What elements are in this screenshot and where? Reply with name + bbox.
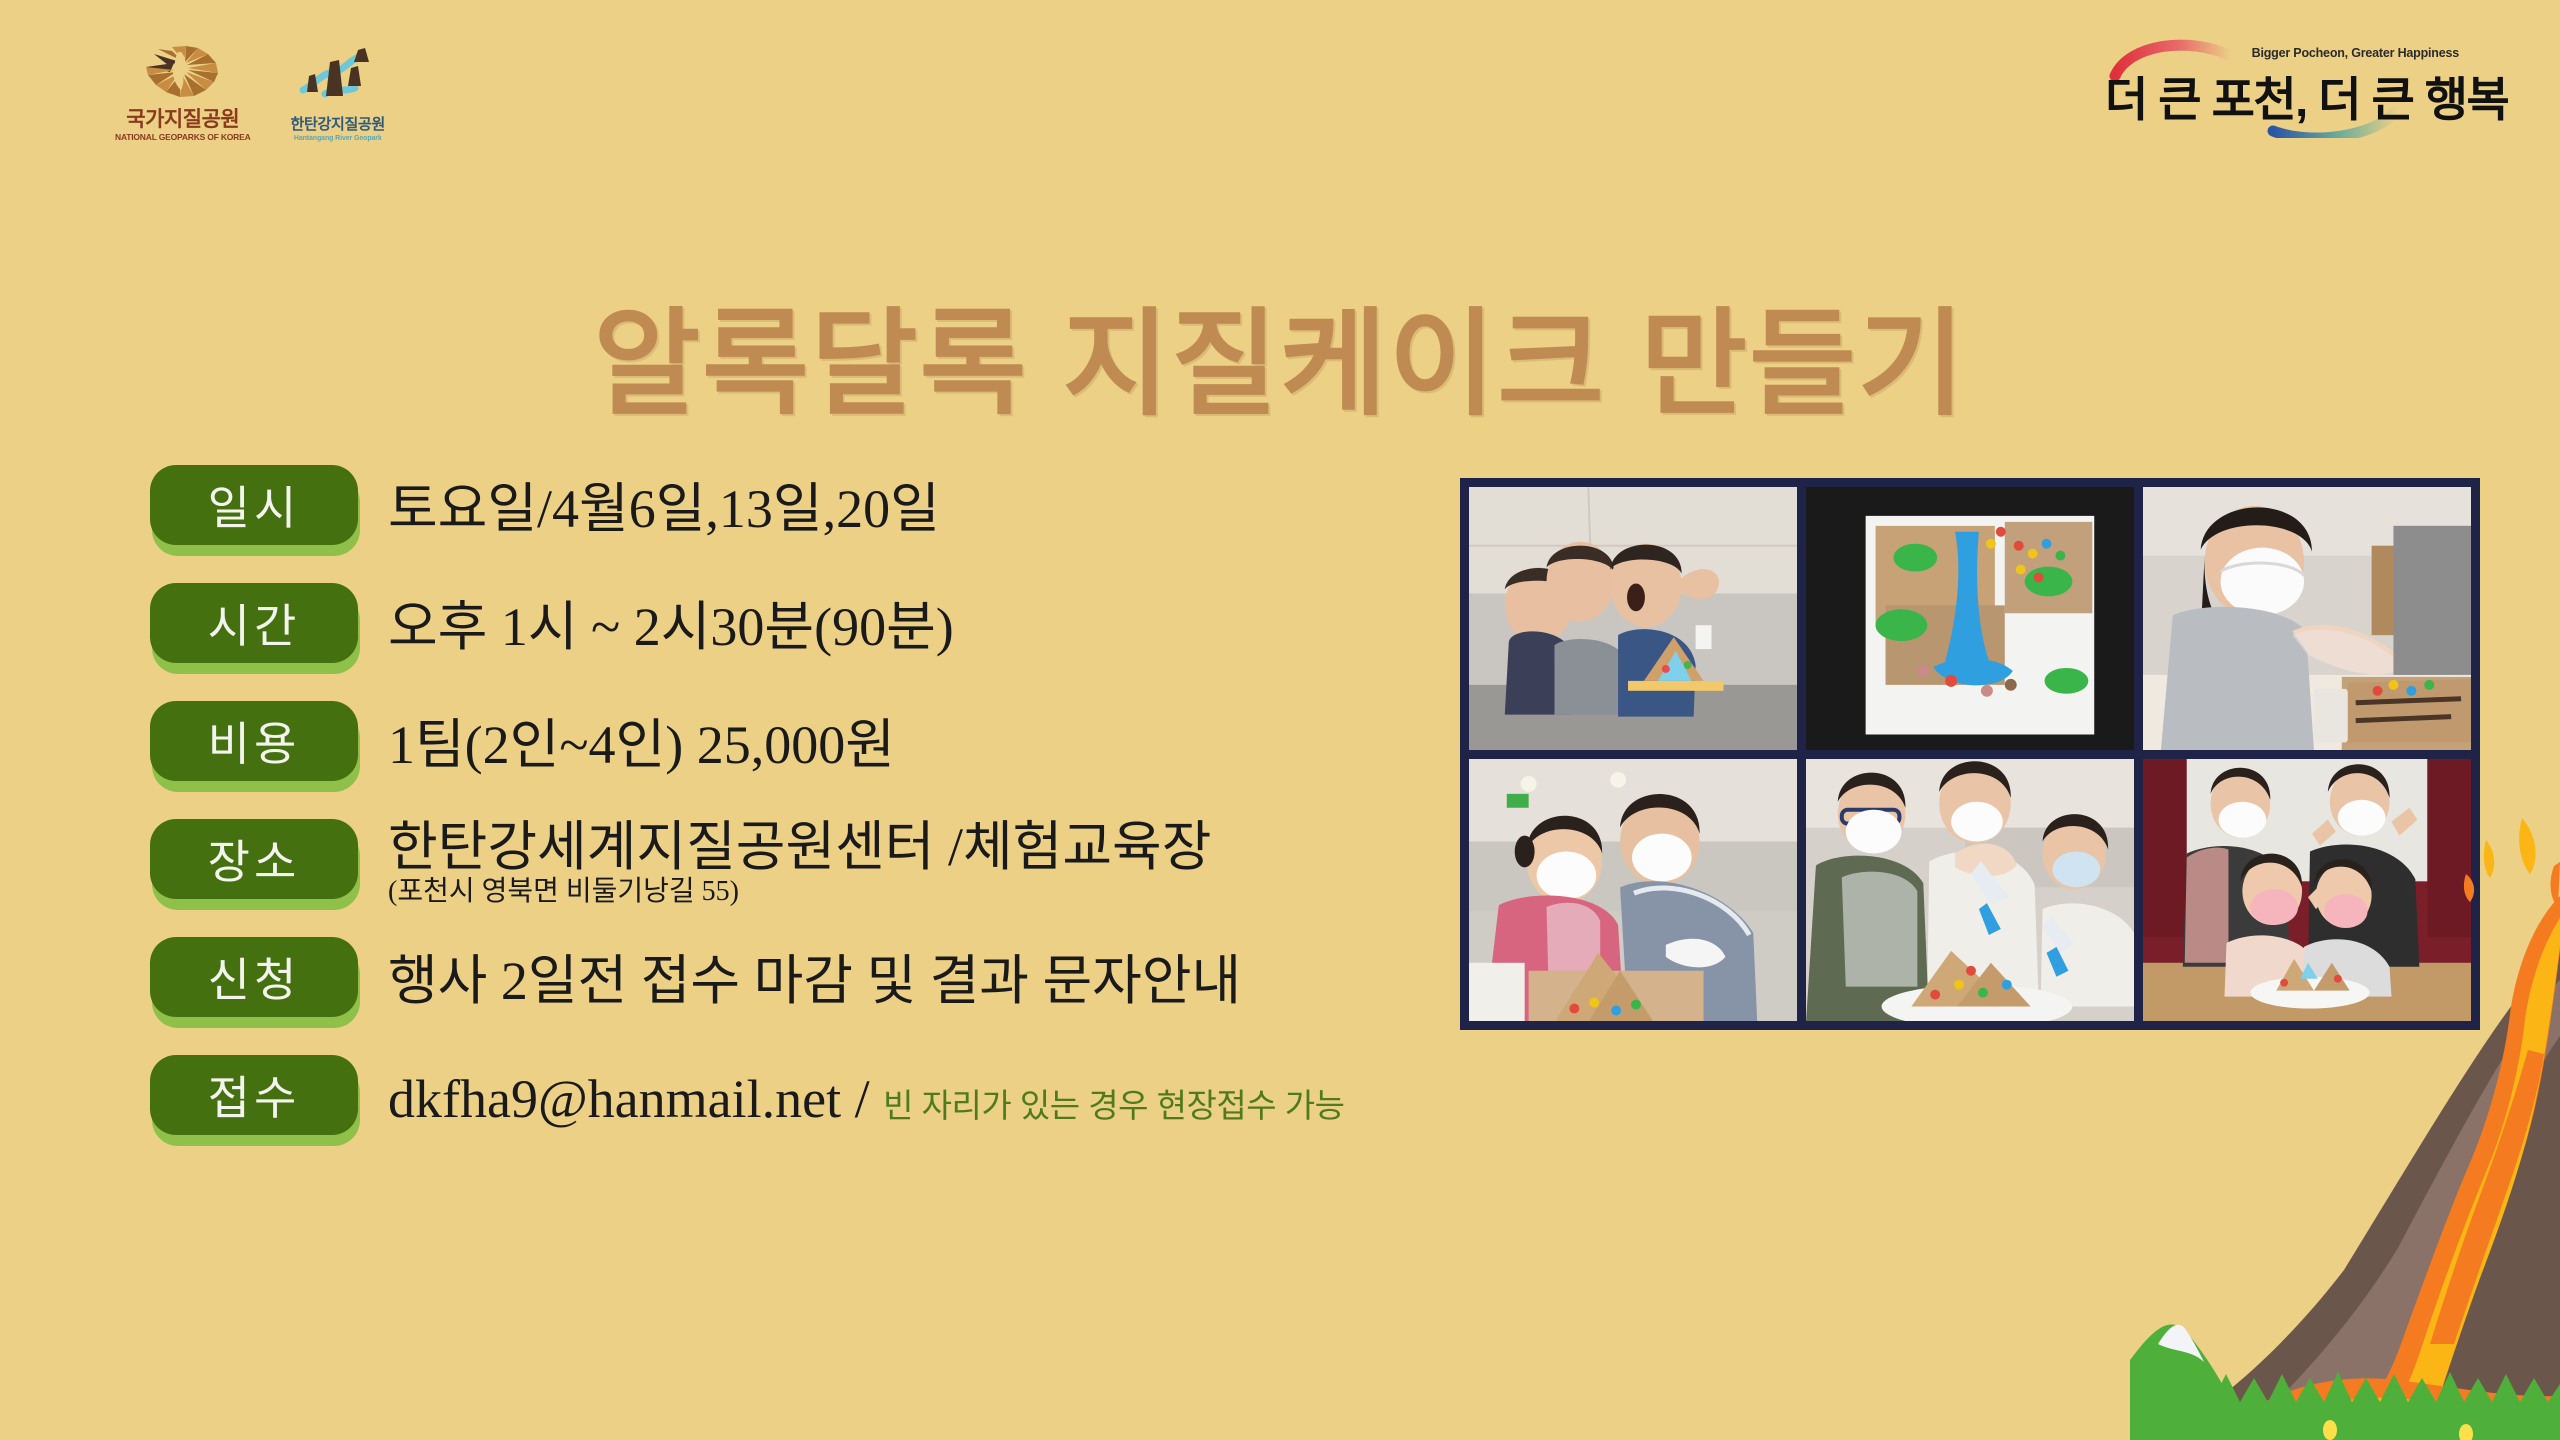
info-list: 일시 토요일/4월6일,13일,20일 시간 오후 1시 ~ 2시30분(90분… — [150, 450, 1430, 1158]
badge-datetime: 일시 — [150, 465, 362, 553]
pocheon-wordmark: 더 큰 포천, 더 큰 행복 — [2105, 61, 2508, 130]
national-geopark-logo: 국가지질공원 NATIONAL GEOPARKS OF KOREA — [115, 40, 251, 142]
badge-label: 시간 — [208, 590, 301, 656]
hantangang-name-ko: 한탄강지질공원 — [291, 113, 386, 134]
info-note-reception: 빈 자리가 있는 경우 현장접수 가능 — [883, 1087, 1344, 1124]
page-title: 알록달록 지질케이크 만들기 — [0, 306, 2560, 422]
photo-6-family-group — [2143, 759, 2471, 1022]
info-value-time: 오후 1시 ~ 2시30분(90분) — [388, 597, 954, 657]
photo-5-piping-cream — [1806, 759, 2134, 1022]
badge-venue: 장소 — [150, 819, 362, 907]
badge-label: 일시 — [208, 472, 301, 538]
badge-cost: 비용 — [150, 701, 362, 789]
photo-3-girl-decorating — [2143, 487, 2471, 750]
info-row-time: 시간 오후 1시 ~ 2시30분(90분) — [150, 568, 1430, 686]
info-row-datetime: 일시 토요일/4월6일,13일,20일 — [150, 450, 1430, 568]
badge-time: 시간 — [150, 583, 362, 671]
badge-reception: 접수 — [150, 1055, 362, 1143]
photo-gallery — [1460, 478, 2480, 1030]
info-value-cost: 1팀(2인~4인) 25,000원 — [388, 715, 895, 775]
photo-2-waterfall-cake — [1806, 487, 2134, 750]
poster-root: 국가지질공원 NATIONAL GEOPARKS OF KOREA 한탄강지질공… — [0, 0, 2560, 1440]
pocheon-city-logo: Bigger Pocheon, Greater Happiness 더 큰 포천… — [2105, 28, 2465, 138]
info-value-reception-email[interactable]: dkfha9@hanmail.net / — [388, 1069, 870, 1129]
badge-label: 비용 — [208, 708, 301, 774]
river-rocks-icon — [295, 44, 381, 111]
photo-4-child-and-adult — [1469, 759, 1797, 1022]
info-row-reception: 접수 dkfha9@hanmail.net / 빈 자리가 있는 경우 현장접수… — [150, 1040, 1430, 1158]
hantangang-name-en: Hantangang River Geopark — [294, 135, 382, 142]
pocheon-tagline: Bigger Pocheon, Greater Happiness — [2252, 46, 2459, 60]
badge-label: 신청 — [208, 944, 301, 1010]
info-row-cost: 비용 1팀(2인~4인) 25,000원 — [150, 686, 1430, 804]
national-geopark-name-en: NATIONAL GEOPARKS OF KOREA — [115, 132, 251, 142]
badge-application: 신청 — [150, 937, 362, 1025]
info-row-venue: 장소 한탄강세계지질공원센터 /체험교육장 (포천시 영북면 비둘기낭길 55) — [150, 804, 1430, 922]
hantangang-geopark-logo: 한탄강지질공원 Hantangang River Geopark — [291, 44, 386, 142]
badge-label: 접수 — [208, 1062, 301, 1128]
info-value-venue: 한탄강세계지질공원센터 /체험교육장 — [388, 817, 1211, 877]
info-value-application: 행사 2일전 접수 마감 및 결과 문자안내 — [388, 951, 1241, 1011]
photo-1-family-surprise — [1469, 487, 1797, 750]
national-geopark-name-ko: 국가지질공원 — [126, 109, 239, 130]
info-value-datetime: 토요일/4월6일,13일,20일 — [388, 479, 940, 539]
logo-row: 국가지질공원 NATIONAL GEOPARKS OF KOREA 한탄강지질공… — [115, 40, 385, 142]
info-row-application: 신청 행사 2일전 접수 마감 및 결과 문자안내 — [150, 922, 1430, 1040]
korea-map-fan-icon — [128, 40, 238, 107]
badge-label: 장소 — [208, 826, 301, 892]
info-subvalue-venue-address: (포천시 영북면 비둘기낭길 55) — [388, 878, 1211, 906]
